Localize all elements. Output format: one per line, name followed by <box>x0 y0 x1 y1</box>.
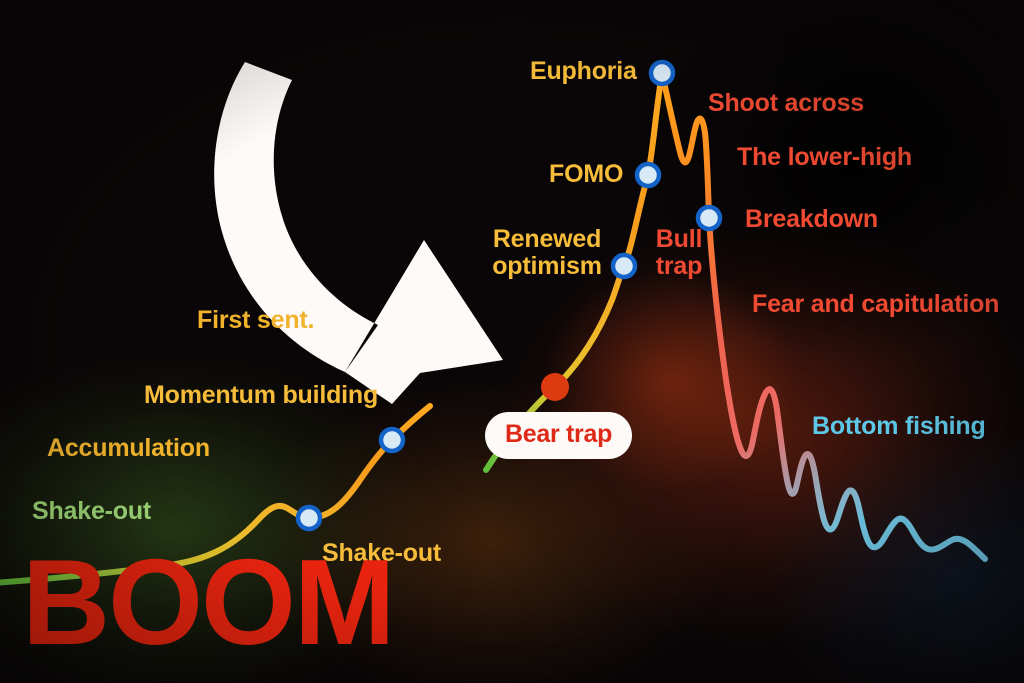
shake-out-marker[interactable] <box>298 507 320 529</box>
label-momentum-building: Momentum building <box>144 382 378 409</box>
label-accumulation: Accumulation <box>47 435 210 462</box>
label-breakdown: Breakdown <box>745 206 878 233</box>
label-fomo: FOMO <box>549 161 623 188</box>
bear-trap-marker[interactable] <box>541 373 569 401</box>
market-cycle-infographic: Shake-out Accumulation Momentum building… <box>0 0 1024 683</box>
label-bull-trap: Bull trap <box>648 226 710 280</box>
accumulation-marker[interactable] <box>381 429 403 451</box>
label-shoot-across: Shoot across <box>708 90 864 117</box>
label-fear-and-capitulation: Fear and capitulation <box>752 291 999 318</box>
label-shake-out-first: Shake-out <box>32 498 151 525</box>
bear-trap-badge[interactable]: Bear trap <box>485 412 632 459</box>
euphoria-marker[interactable] <box>651 62 673 84</box>
label-bottom-fishing: Bottom fishing <box>812 413 986 440</box>
label-first-sent: First sent. <box>197 307 314 334</box>
boom-headline: BOOM <box>22 541 394 663</box>
renewed-optimism-marker[interactable] <box>613 255 635 277</box>
bear-trap-label: Bear trap <box>505 420 612 448</box>
label-the-lower-high: The lower-high <box>737 144 912 171</box>
label-renewed-optimism: Renewed optimism <box>492 226 602 280</box>
label-euphoria: Euphoria <box>530 58 637 85</box>
fomo-marker[interactable] <box>637 164 659 186</box>
